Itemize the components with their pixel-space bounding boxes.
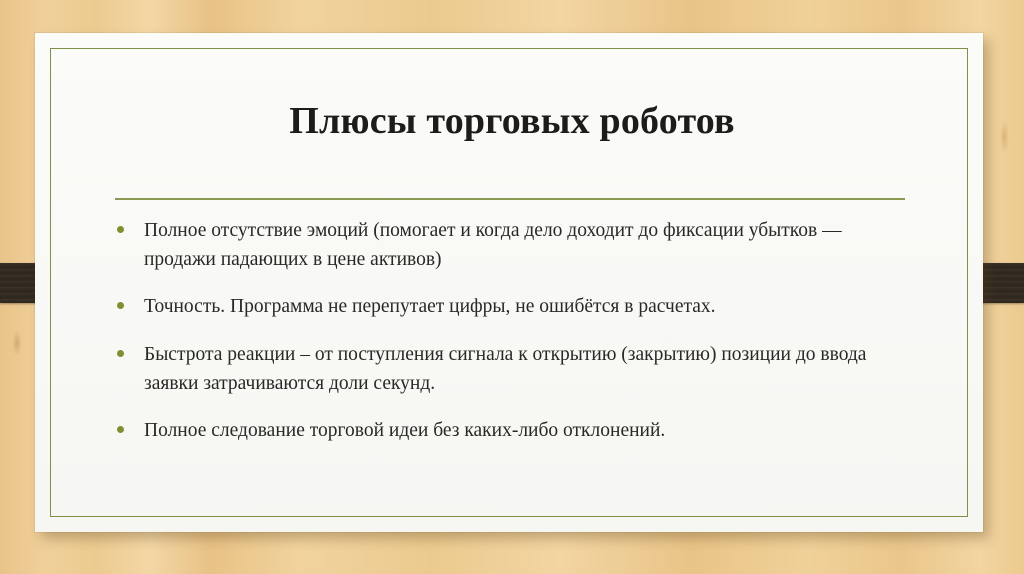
presentation-slide: Плюсы торговых роботов Полное отсутствие… — [0, 0, 1024, 574]
bullet-text: Полное следование торговой идеи без каки… — [144, 417, 913, 446]
list-item: Полное отсутствие эмоций (помогает и ког… — [113, 217, 913, 274]
list-item: Быстрота реакции – от поступления сигнал… — [113, 341, 913, 398]
title-divider — [115, 198, 905, 200]
wood-knot — [1000, 120, 1009, 154]
list-item: Точность. Программа не перепутает цифры,… — [113, 293, 913, 322]
bullet-dot-icon — [117, 426, 124, 433]
bullet-text: Точность. Программа не перепутает цифры,… — [144, 293, 913, 322]
bullet-dot-icon — [117, 302, 124, 309]
bullet-dot-icon — [117, 226, 124, 233]
bullet-list: Полное отсутствие эмоций (помогает и ког… — [113, 217, 913, 446]
wood-knot — [12, 330, 22, 356]
slide-title: Плюсы торговых роботов — [60, 101, 964, 143]
bullet-text: Полное отсутствие эмоций (помогает и ког… — [144, 217, 913, 274]
bullet-text: Быстрота реакции – от поступления сигнал… — [144, 341, 913, 398]
bullet-dot-icon — [117, 350, 124, 357]
list-item: Полное следование торговой идеи без каки… — [113, 417, 913, 446]
